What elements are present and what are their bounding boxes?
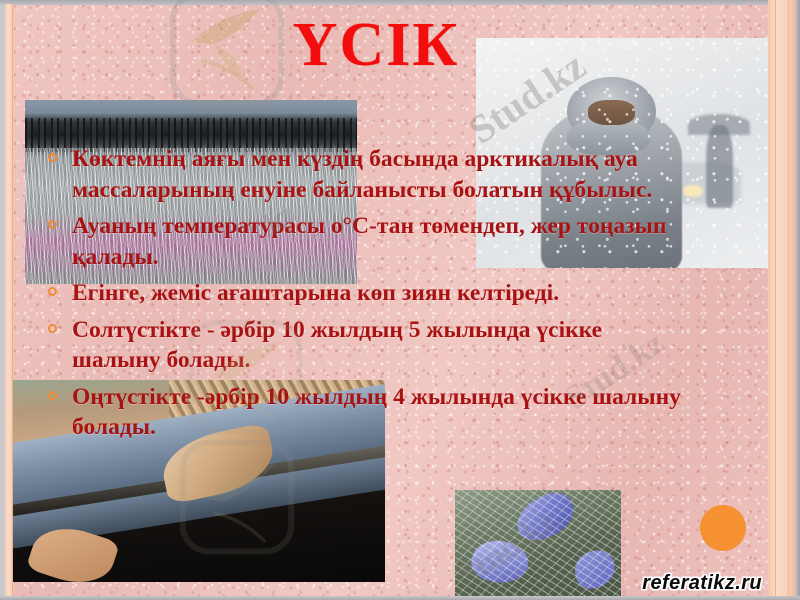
presentation-slide: ҮСІК Көктемнің аяғы мен күздің басында а…	[0, 0, 800, 600]
bullet-circle-icon	[48, 391, 57, 400]
list-item-text: Көктемнің аяғы мен күздің басында арктик…	[72, 146, 652, 203]
list-item-text: Егінге, жеміс ағаштарына көп зиян келтір…	[72, 280, 559, 306]
frame-right-line-inner	[788, 0, 789, 600]
watermark-logo-icon-secondary	[186, 318, 304, 436]
list-item-text: Ауаның температурасы o°C-тан төмендеп, ж…	[72, 213, 666, 270]
bullet-circle-icon	[48, 220, 57, 229]
list-item-text: Оңтүстікте -әрбір 10 жылдың 4 жылында үс…	[72, 384, 681, 441]
photo-frosted-blue-flower	[455, 490, 621, 600]
frame-right-edge	[795, 0, 800, 600]
bullet-circle-icon	[48, 287, 57, 296]
list-item: Егінге, жеміс ағаштарына көп зиян келтір…	[44, 278, 684, 309]
frame-top-strip	[0, 0, 800, 5]
list-item: Оңтүстікте -әрбір 10 жылдың 4 жылында үс…	[44, 382, 684, 443]
bullet-circle-icon	[48, 324, 57, 333]
photo-frost-hairs-detail	[455, 490, 621, 600]
frame-right-strip	[768, 0, 796, 600]
slide-title: ҮСІК	[0, 14, 752, 76]
list-item: Ауаның температурасы o°C-тан төмендеп, ж…	[44, 211, 684, 272]
bullet-circle-icon	[48, 153, 57, 162]
accent-dot	[700, 505, 746, 551]
watermark-logo-icon-tertiary	[178, 438, 296, 556]
watermark-bird-logo-icon	[168, 0, 286, 108]
list-item-text: Солтүстікте - әрбір 10 жылдың 5 жылында …	[72, 317, 602, 374]
list-item: Солтүстікте - әрбір 10 жылдың 5 жылында …	[44, 315, 684, 376]
frame-right-line-outer	[775, 0, 776, 600]
frame-bottom-strip	[0, 596, 800, 600]
watermark-referatikz: referatikz.ru	[642, 572, 762, 595]
bullet-list: Көктемнің аяғы мен күздің басында арктик…	[44, 144, 684, 449]
list-item: Көктемнің аяғы мен күздің басында арктик…	[44, 144, 684, 205]
